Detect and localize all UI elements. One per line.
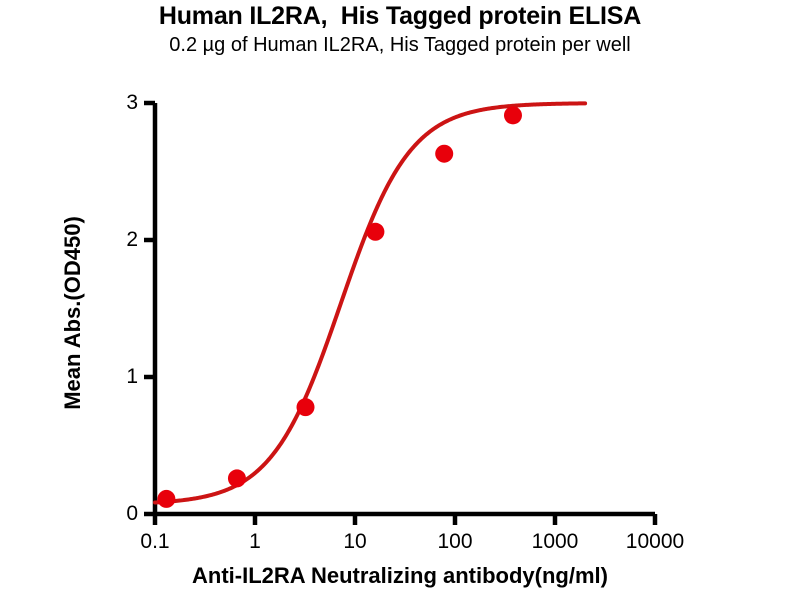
x-tick-label: 10000 xyxy=(626,530,684,554)
data-point-marker xyxy=(366,223,384,241)
chart-title: Human IL2RA, His Tagged protein ELISA xyxy=(0,2,800,31)
x-axis-label: Anti-IL2RA Neutralizing antibody(ng/ml) xyxy=(0,563,800,589)
x-tick-label: 10 xyxy=(343,530,366,554)
chart-subtitle: 0.2 µg of Human IL2RA, His Tagged protei… xyxy=(0,34,800,57)
y-tick-label: 3 xyxy=(98,91,138,115)
x-tick-label: 1 xyxy=(249,530,261,554)
data-point-marker xyxy=(157,490,175,508)
y-tick-label: 1 xyxy=(98,365,138,389)
data-point-marker xyxy=(297,398,315,416)
x-tick-label: 100 xyxy=(437,530,472,554)
elisa-chart-figure: Human IL2RA, His Tagged protein ELISA 0.… xyxy=(0,0,800,600)
y-tick-label: 0 xyxy=(98,502,138,526)
y-tick-label: 2 xyxy=(98,228,138,252)
data-point-marker xyxy=(504,106,522,124)
y-axis-label: Mean Abs.(OD450) xyxy=(60,103,86,523)
data-point-marker xyxy=(435,145,453,163)
x-tick-label: 0.1 xyxy=(140,530,169,554)
fit-curve xyxy=(155,103,585,502)
x-tick-label: 1000 xyxy=(532,530,579,554)
data-point-marker xyxy=(228,469,246,487)
